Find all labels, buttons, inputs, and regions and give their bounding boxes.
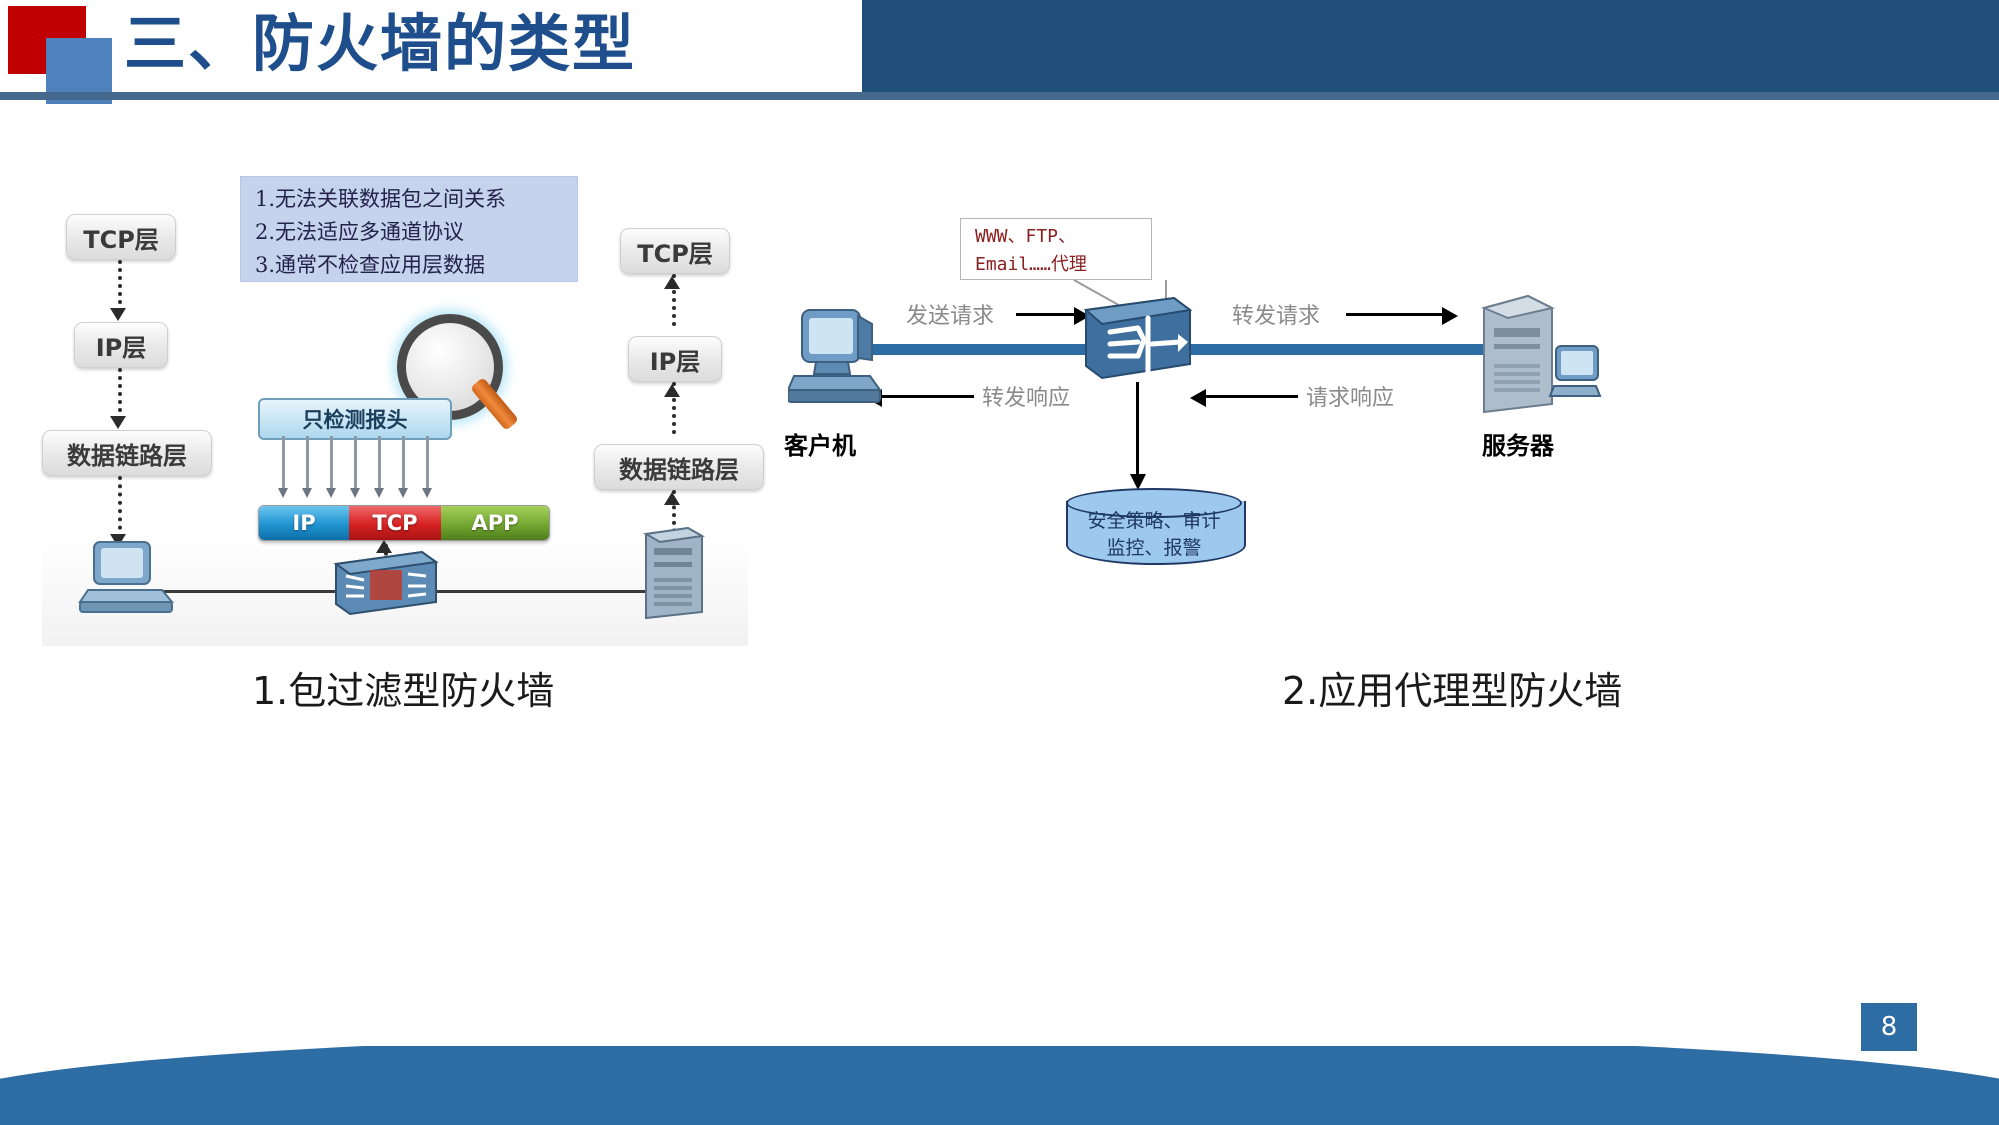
packet-filter-diagram: 1.无法关联数据包之间关系 2.无法适应多通道协议 3.通常不检查应用层数据 T… [42, 148, 748, 646]
security-policy-datastore: 安全策略、审计 监控、报警 [1066, 488, 1242, 566]
left-stack-datalink-layer: 数据链路层 [42, 430, 212, 476]
packet-structure-bar: IP TCP APP [258, 505, 550, 541]
left-stack-connector-2 [118, 368, 122, 420]
flow-label-forward-response: 转发响应 [982, 380, 1070, 412]
left-stack-connector-3 [118, 476, 122, 538]
left-stack-ip-layer: IP层 [74, 322, 168, 368]
probe-pin-head [302, 488, 312, 498]
right-stack-tcp-layer: TCP层 [620, 228, 730, 274]
proxy-firewall-icon [1082, 296, 1194, 382]
probe-pin [306, 436, 309, 492]
callout-line-2: Email……代理 [975, 251, 1151, 279]
probe-pin [378, 436, 381, 492]
firewall-appliance-icon [330, 546, 442, 620]
probe-pin-head [398, 488, 408, 498]
client-label: 客户机 [784, 426, 856, 461]
client-workstation-icon [78, 538, 186, 620]
server-label: 服务器 [1482, 426, 1554, 461]
probe-pin-head [326, 488, 336, 498]
server-tower-icon [632, 526, 712, 622]
proxy-services-callout: WWW、FTP、 Email……代理 [960, 218, 1152, 280]
right-stack-arrow-1 [664, 276, 680, 289]
left-stack-tcp-layer: TCP层 [66, 214, 176, 260]
callout-line-1: WWW、FTP、 [975, 223, 1151, 251]
left-stack-connector-1 [118, 260, 122, 312]
packet-segment-app: APP [441, 506, 549, 540]
server-icon [1470, 294, 1604, 420]
flow-label-forward-request: 转发请求 [1232, 298, 1320, 330]
probe-pin [402, 436, 405, 492]
left-stack-arrow-2 [110, 416, 126, 429]
note-line-1: 1.无法关联数据包之间关系 [255, 183, 569, 216]
callout-line-2-cjk: 代理 [1051, 254, 1087, 275]
note-line-2: 2.无法适应多通道协议 [255, 216, 569, 249]
header-divider-rule [0, 92, 1999, 100]
page-number-badge: 8 [1861, 1003, 1917, 1051]
client-workstation-icon [788, 306, 884, 412]
datastore-text: 安全策略、审计 监控、报警 [1066, 508, 1242, 562]
server-network-line [1184, 344, 1488, 355]
client-network-line [866, 344, 1094, 355]
request-response-arrow-head [1190, 389, 1206, 407]
inspect-header-label: 只检测报头 [258, 398, 452, 440]
probe-pin [330, 436, 333, 492]
right-stack-arrow-2 [664, 384, 680, 397]
probe-pin-head [374, 488, 384, 498]
probe-pin-head [350, 488, 360, 498]
datastore-line-2: 监控、报警 [1066, 535, 1242, 562]
probe-pin-head [422, 488, 432, 498]
forward-response-arrow-line [882, 395, 974, 398]
datastore-connector-line [1136, 382, 1139, 486]
probe-pin [282, 436, 285, 492]
header-blue-block [862, 0, 1999, 94]
right-stack-datalink-layer: 数据链路层 [594, 444, 764, 490]
send-request-arrow-line [1016, 313, 1076, 316]
flow-label-request-response: 请求响应 [1306, 380, 1394, 412]
packet-segment-tcp: TCP [349, 506, 441, 540]
limitations-note-box: 1.无法关联数据包之间关系 2.无法适应多通道协议 3.通常不检查应用层数据 [240, 176, 578, 282]
forward-request-arrow-line [1346, 313, 1444, 316]
application-proxy-diagram: WWW、FTP、 Email……代理 发送请求 转发请求 转发响应 请求响应 客… [770, 148, 1985, 646]
note-line-3: 3.通常不检查应用层数据 [255, 249, 569, 282]
footer-curve-shape [0, 1046, 1999, 1125]
probe-pin [354, 436, 357, 492]
probe-pin [426, 436, 429, 492]
right-diagram-caption: 2.应用代理型防火墙 [1282, 660, 1622, 715]
left-diagram-caption: 1.包过滤型防火墙 [252, 660, 554, 715]
footer-decoration [0, 1046, 1999, 1125]
right-stack-ip-layer: IP层 [628, 336, 722, 382]
flow-label-send-request: 发送请求 [906, 298, 994, 330]
forward-request-arrow-head [1442, 307, 1458, 325]
right-stack-arrow-3 [664, 492, 680, 505]
datastore-line-1: 安全策略、审计 [1066, 508, 1242, 535]
slide-header: 三、防火墙的类型 [0, 0, 1999, 104]
page-title: 三、防火墙的类型 [124, 2, 636, 86]
callout-line-2-mono: Email…… [975, 254, 1051, 275]
probe-pin-head [278, 488, 288, 498]
left-stack-arrow-1 [110, 308, 126, 321]
packet-segment-ip: IP [259, 506, 349, 540]
request-response-arrow-line [1206, 395, 1298, 398]
